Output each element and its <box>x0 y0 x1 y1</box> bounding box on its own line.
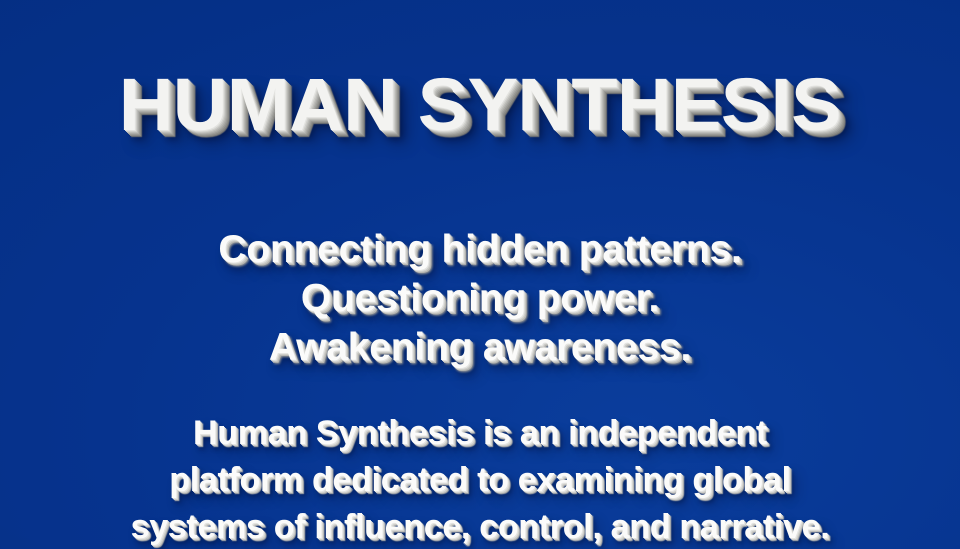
poster-content-stack: HUMAN SYNTHESIS Connecting hidden patter… <box>0 0 960 549</box>
tagline-line-1: Connecting hidden patterns. <box>218 225 741 274</box>
body-paragraph: Human Synthesis is an independent platfo… <box>131 410 830 549</box>
body-line-2: platform dedicated to examining global <box>131 457 830 504</box>
body-line-3: systems of influence, control, and narra… <box>131 504 830 549</box>
tagline-block: Connecting hidden patterns. Questioning … <box>218 225 741 372</box>
tagline-line-3: Awakening awareness. <box>218 323 741 372</box>
tagline-line-2: Questioning power. <box>218 274 741 323</box>
poster-canvas: HUMAN SYNTHESIS Connecting hidden patter… <box>0 0 960 549</box>
page-title: HUMAN SYNTHESIS <box>119 68 841 142</box>
body-line-1: Human Synthesis is an independent <box>131 410 830 457</box>
